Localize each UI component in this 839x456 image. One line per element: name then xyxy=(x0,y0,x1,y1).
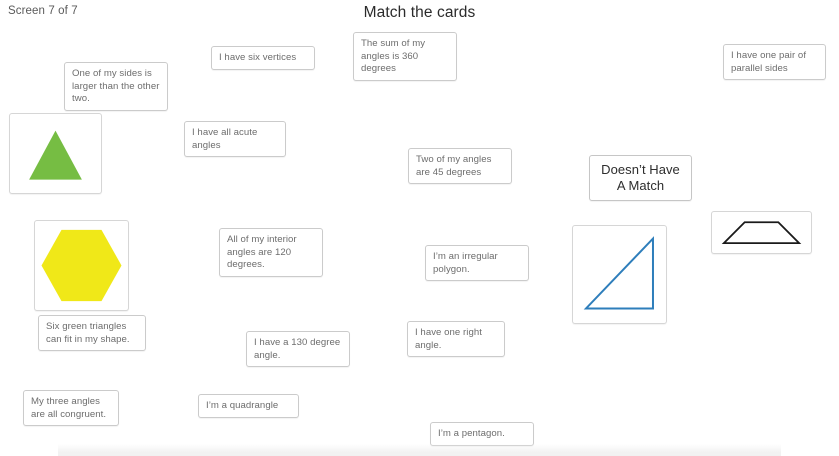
card-two-45-degrees[interactable]: Two of my angles are 45 degrees xyxy=(408,148,512,184)
card-one-pair-parallel[interactable]: I have one pair of parallel sides xyxy=(723,44,826,80)
black-trapezoid-icon xyxy=(712,212,811,253)
card-pentagon[interactable]: I’m a pentagon. xyxy=(430,422,534,446)
card-one-of-my-sides[interactable]: One of my sides is larger than the other… xyxy=(64,62,168,111)
card-130-degree-angle[interactable]: I have a 130 degree angle. xyxy=(246,331,350,367)
match-the-cards-activity: Screen 7 of 7 Match the cards One of my … xyxy=(0,0,839,456)
shape-card-blue-right-triangle[interactable] xyxy=(572,225,667,324)
shape-card-yellow-hexagon[interactable] xyxy=(34,220,129,311)
card-interior-120[interactable]: All of my interior angles are 120 degree… xyxy=(219,228,323,277)
green-equilateral-triangle-icon xyxy=(10,114,101,193)
card-quadrangle[interactable]: I’m a quadrangle xyxy=(198,394,299,418)
bottom-fade-band xyxy=(58,444,781,456)
shape-card-green-equilateral-triangle[interactable] xyxy=(9,113,102,194)
card-three-congruent-angles[interactable]: My three angles are all congruent. xyxy=(23,390,119,426)
card-doesnt-have-a-match[interactable]: Doesn’t HaveA Match xyxy=(589,155,692,201)
blue-right-triangle-icon xyxy=(573,226,666,323)
yellow-hexagon-icon xyxy=(35,221,128,310)
card-one-right-angle[interactable]: I have one right angle. xyxy=(407,321,505,357)
card-six-green-triangles[interactable]: Six green triangles can fit in my shape. xyxy=(38,315,146,351)
card-all-acute[interactable]: I have all acute angles xyxy=(184,121,286,157)
shape-card-black-trapezoid[interactable] xyxy=(711,211,812,254)
card-six-vertices[interactable]: I have six vertices xyxy=(211,46,315,70)
card-irregular-polygon[interactable]: I’m an irregular polygon. xyxy=(425,245,529,281)
page-title: Match the cards xyxy=(0,4,839,22)
card-sum-360[interactable]: The sum of my angles is 360 degrees xyxy=(353,32,457,81)
